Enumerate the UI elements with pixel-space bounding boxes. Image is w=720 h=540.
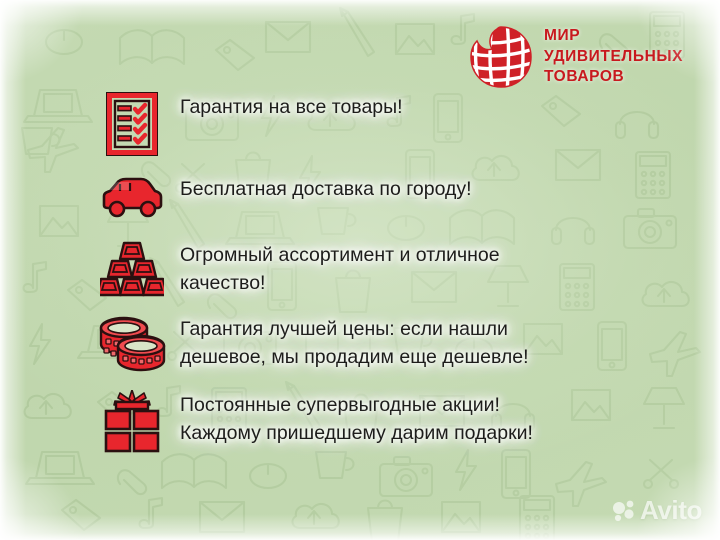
benefit-line: Постоянные супервыгодные акции! xyxy=(180,392,644,420)
benefit-line: Гарантия лучшей цены: если нашли xyxy=(180,316,644,344)
brand-line-3: ТОВАРОВ xyxy=(544,67,683,88)
benefit-item: Огромный ассортимент и отличное качество… xyxy=(84,236,644,302)
benefit-item: Бесплатная доставка по городу! xyxy=(84,170,644,226)
brand-logo: МИР УДИВИТЕЛЬНЫХ ТОВАРОВ xyxy=(468,24,683,90)
benefit-line: Огромный ассортимент и отличное xyxy=(180,242,644,270)
benefit-line: Каждому пришедшему дарим подарки! xyxy=(180,420,644,448)
red-globe-icon xyxy=(468,24,534,90)
benefit-icon-wrap xyxy=(84,88,180,160)
benefit-item: Гарантия на все товары! xyxy=(84,88,644,160)
benefit-icon-wrap xyxy=(84,386,180,458)
brand-name: МИР УДИВИТЕЛЬНЫХ ТОВАРОВ xyxy=(544,26,683,88)
benefit-icon-wrap xyxy=(84,170,180,226)
benefit-text: Гарантия лучшей цены: если нашли дешевое… xyxy=(180,310,644,372)
brand-line-1: МИР xyxy=(544,26,683,47)
brand-line-2: УДИВИТЕЛЬНЫХ xyxy=(544,47,683,68)
benefit-line: Гарантия на все товары! xyxy=(180,94,644,122)
benefit-text: Бесплатная доставка по городу! xyxy=(180,170,644,204)
benefits-list: Гарантия на все товары! Бесплатная доста… xyxy=(84,88,644,472)
benefit-text: Постоянные супервыгодные акции! Каждому … xyxy=(180,386,644,448)
car-icon xyxy=(100,177,164,219)
checklist-icon xyxy=(106,92,158,156)
bracelets-icon xyxy=(98,315,166,373)
benefit-text: Огромный ассортимент и отличное качество… xyxy=(180,236,644,298)
benefit-icon-wrap xyxy=(84,236,180,302)
benefit-line: дешевое, мы продадим еще дешевле! xyxy=(180,344,644,372)
benefit-line: Бесплатная доставка по городу! xyxy=(180,176,644,204)
benefit-line: качество! xyxy=(180,270,644,298)
promo-poster: МИР УДИВИТЕЛЬНЫХ ТОВАРОВ xyxy=(0,0,720,540)
benefit-item: Гарантия лучшей цены: если нашли дешевое… xyxy=(84,310,644,378)
benefit-item: Постоянные супервыгодные акции! Каждому … xyxy=(84,386,644,458)
benefit-icon-wrap xyxy=(84,310,180,378)
gold-bars-icon xyxy=(100,241,164,297)
benefit-text: Гарантия на все товары! xyxy=(180,88,644,122)
gift-box-icon xyxy=(103,390,161,454)
